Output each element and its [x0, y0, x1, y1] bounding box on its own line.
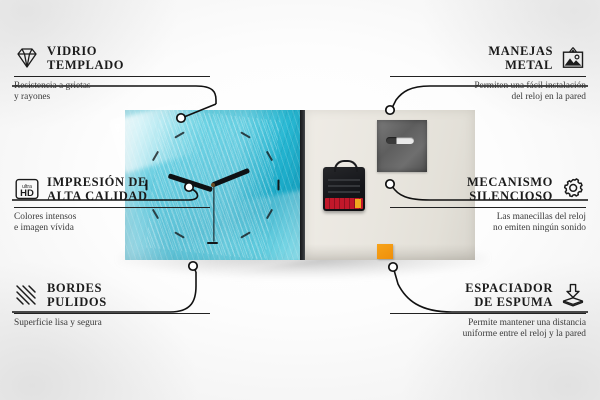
- wire-tempered-glass-leg: [184, 104, 216, 117]
- feature-subtitle: Permiten una fácil instalación del reloj…: [390, 81, 586, 104]
- feature-title: MECANISMO SILENCIOSO: [467, 175, 553, 203]
- feature-title: ESPACIADOR DE ESPUMA: [465, 281, 553, 309]
- feature-subtitle: Colores intensos e imagen vívida: [14, 212, 210, 235]
- feature-subtitle-line: y rayones: [14, 92, 210, 103]
- feature-hd-print: ultra HD IMPRESIÓN DE ALTA CALIDAD Color…: [14, 175, 210, 235]
- gear-icon: [560, 177, 586, 201]
- infographic-canvas: VIDRIO TEMPLADO Resistencia a grietas y …: [0, 0, 600, 400]
- clock-hub: [211, 183, 215, 187]
- feature-subtitle: Las manecillas del reloj no emiten ningú…: [390, 212, 586, 235]
- feature-title: VIDRIO TEMPLADO: [47, 44, 124, 72]
- feature-subtitle-line: e imagen vívida: [14, 223, 210, 234]
- feature-title-line: BORDES: [47, 281, 107, 295]
- feature-subtitle-line: Superficie lisa y segura: [14, 318, 210, 329]
- feature-metal-handles: MANEJAS METAL Permiten una fácil instala…: [390, 44, 586, 104]
- feature-subtitle-line: Resistencia a grietas: [14, 81, 210, 92]
- feature-subtitle-line: del reloj en la pared: [390, 92, 586, 103]
- feature-title: MANEJAS METAL: [488, 44, 553, 72]
- ultra-hd-badge-icon: ultra HD: [14, 177, 40, 201]
- feature-subtitle-line: Las manecillas del reloj: [390, 212, 586, 223]
- feature-divider: [390, 76, 586, 77]
- feature-header: MANEJAS METAL: [390, 44, 586, 72]
- badge-large-text: HD: [20, 188, 34, 199]
- feature-header: BORDES PULIDOS: [14, 281, 210, 309]
- feature-divider: [390, 207, 586, 208]
- feature-subtitle-line: no emiten ningún sonido: [390, 223, 586, 234]
- feature-header: ESPACIADOR DE ESPUMA: [390, 281, 586, 309]
- feature-header: VIDRIO TEMPLADO: [14, 44, 210, 72]
- feature-title-line: MANEJAS: [488, 44, 553, 58]
- feature-foam-spacer: ESPACIADOR DE ESPUMA Permite mantener un…: [390, 281, 586, 341]
- feature-subtitle-line: uniforme entre el reloj y la pared: [390, 329, 586, 340]
- feature-divider: [14, 76, 210, 77]
- anchor-dot-metal-handles: [386, 106, 394, 114]
- feature-title-line: ALTA CALIDAD: [47, 189, 148, 203]
- anchor-dot-foam-spacer: [389, 263, 397, 271]
- feature-divider: [14, 313, 210, 314]
- feature-subtitle: Resistencia a grietas y rayones: [14, 81, 210, 104]
- feature-subtitle: Superficie lisa y segura: [14, 318, 210, 329]
- feature-header: ultra HD IMPRESIÓN DE ALTA CALIDAD: [14, 175, 210, 203]
- feature-title: IMPRESIÓN DE ALTA CALIDAD: [47, 175, 148, 203]
- feature-subtitle-line: Permiten una fácil instalación: [390, 81, 586, 92]
- feature-title-line: DE ESPUMA: [465, 295, 553, 309]
- feature-title-line: ESPACIADOR: [465, 281, 553, 295]
- feature-title-line: VIDRIO: [47, 44, 124, 58]
- feature-header: MECANISMO SILENCIOSO: [390, 175, 586, 203]
- picture-hanger-icon: [560, 46, 586, 70]
- diamond-icon: [14, 46, 40, 70]
- feature-polished-edges: BORDES PULIDOS Superficie lisa y segura: [14, 281, 210, 329]
- feature-tempered-glass: VIDRIO TEMPLADO Resistencia a grietas y …: [14, 44, 210, 104]
- feature-title-line: IMPRESIÓN DE: [47, 175, 148, 189]
- feature-title-line: SILENCIOSO: [467, 189, 553, 203]
- feature-silent-mechanism: MECANISMO SILENCIOSO Las manecillas del …: [390, 175, 586, 235]
- feature-title-line: METAL: [488, 58, 553, 72]
- feature-title-line: MECANISMO: [467, 175, 553, 189]
- feature-subtitle: Permite mantener una distancia uniforme …: [390, 318, 586, 341]
- anchor-dot-tempered-glass: [177, 114, 185, 122]
- feature-subtitle-line: Colores intensos: [14, 212, 210, 223]
- feature-title-line: PULIDOS: [47, 295, 107, 309]
- anchor-dot-polished-edges: [189, 262, 197, 270]
- feature-title: BORDES PULIDOS: [47, 281, 107, 309]
- foam-spacer-icon: [560, 283, 586, 307]
- polished-edges-icon: [14, 283, 40, 307]
- feature-subtitle-line: Permite mantener una distancia: [390, 318, 586, 329]
- feature-title-line: TEMPLADO: [47, 58, 124, 72]
- feature-divider: [14, 207, 210, 208]
- feature-divider: [390, 313, 586, 314]
